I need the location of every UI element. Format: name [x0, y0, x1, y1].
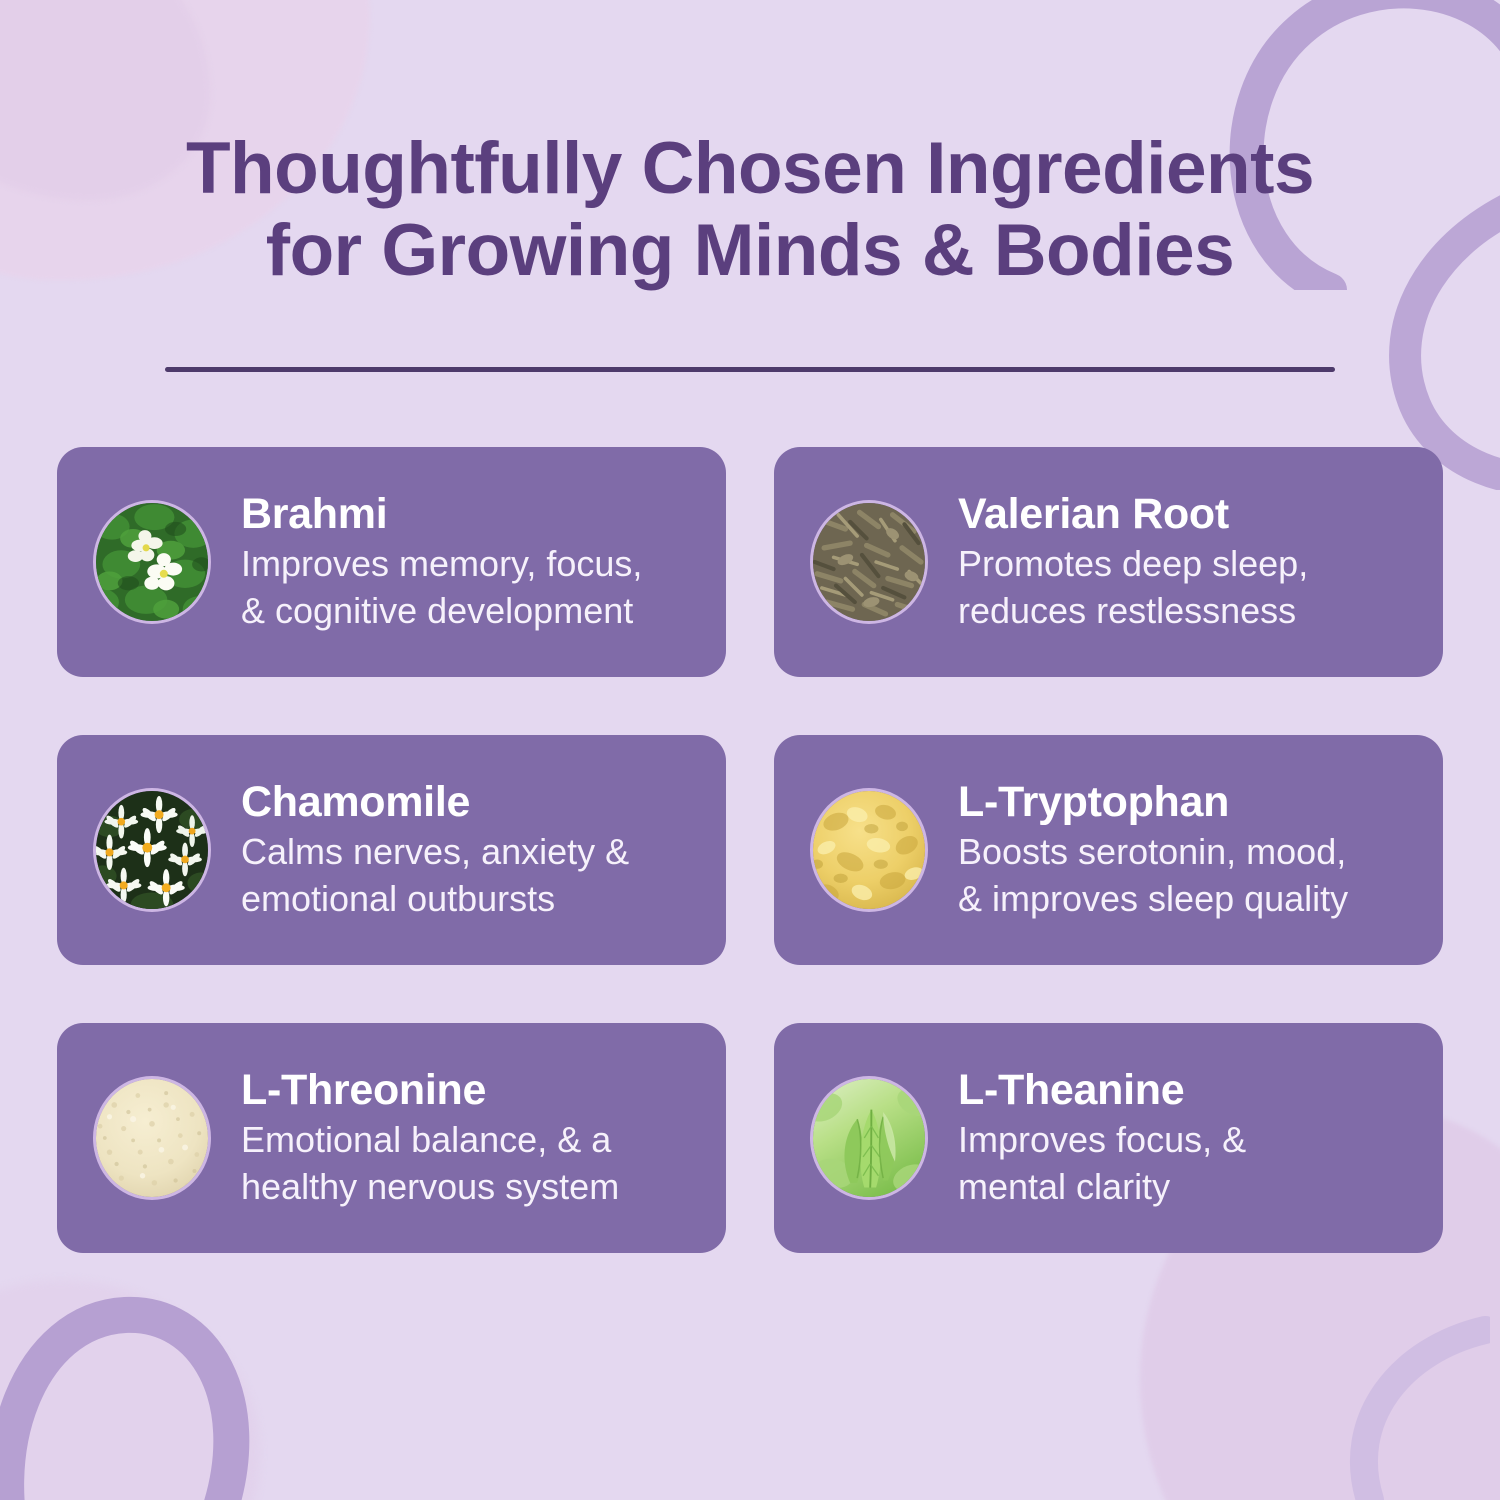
ingredient-desc-line-1: Promotes deep sleep,	[958, 541, 1417, 588]
threonine-powder-photo-icon	[93, 1076, 211, 1200]
ingredient-desc-line-2: healthy nervous system	[241, 1164, 700, 1211]
decor-arc-bottom-right	[1250, 1310, 1490, 1500]
green-tea-leaves-photo-icon	[810, 1076, 928, 1200]
ingredient-name: Brahmi	[241, 491, 700, 537]
ingredient-desc-line-2: & improves sleep quality	[958, 876, 1417, 923]
page-title-line-1: Thoughtfully Chosen Ingredients	[60, 128, 1440, 210]
valerian-root-text: Valerian Root Promotes deep sleep, reduc…	[958, 489, 1417, 635]
ingredient-card-valerian-root[interactable]: Valerian Root Promotes deep sleep, reduc…	[774, 447, 1443, 677]
valerian-root-photo-icon	[810, 500, 928, 624]
ingredient-name: L-Threonine	[241, 1067, 700, 1113]
brahmi-text: Brahmi Improves memory, focus, & cogniti…	[241, 489, 700, 635]
ingredient-desc-line-2: reduces restlessness	[958, 588, 1417, 635]
ingredient-name: Valerian Root	[958, 491, 1417, 537]
ingredient-desc-line-2: & cognitive development	[241, 588, 700, 635]
ingredients-infographic: Thoughtfully Chosen Ingredients for Grow…	[0, 0, 1500, 1500]
ingredient-card-chamomile[interactable]: Chamomile Calms nerves, anxiety & emotio…	[57, 735, 726, 965]
ingredient-name: Chamomile	[241, 779, 700, 825]
ingredient-desc-line-1: Calms nerves, anxiety &	[241, 829, 700, 876]
ingredient-card-l-theanine[interactable]: L-Theanine Improves focus, & mental clar…	[774, 1023, 1443, 1253]
ingredient-name: L-Tryptophan	[958, 779, 1417, 825]
ingredient-desc-line-1: Improves focus, &	[958, 1117, 1417, 1164]
l-threonine-text: L-Threonine Emotional balance, & a healt…	[241, 1065, 700, 1211]
ingredient-card-brahmi[interactable]: Brahmi Improves memory, focus, & cogniti…	[57, 447, 726, 677]
decor-blob-bottom-left	[0, 1280, 260, 1500]
page-title-line-2: for Growing Minds & Bodies	[60, 210, 1440, 292]
l-tryptophan-text: L-Tryptophan Boosts serotonin, mood, & i…	[958, 777, 1417, 923]
ingredient-desc-line-1: Emotional balance, & a	[241, 1117, 700, 1164]
ingredient-name: L-Theanine	[958, 1067, 1417, 1113]
chamomile-flowers-photo-icon	[93, 788, 211, 912]
l-theanine-text: L-Theanine Improves focus, & mental clar…	[958, 1065, 1417, 1211]
ingredient-card-l-threonine[interactable]: L-Threonine Emotional balance, & a healt…	[57, 1023, 726, 1253]
page-header: Thoughtfully Chosen Ingredients for Grow…	[0, 128, 1500, 293]
chamomile-text: Chamomile Calms nerves, anxiety & emotio…	[241, 777, 700, 923]
tryptophan-powder-photo-icon	[810, 788, 928, 912]
ingredient-desc-line-2: emotional outbursts	[241, 876, 700, 923]
ingredient-desc-line-1: Boosts serotonin, mood,	[958, 829, 1417, 876]
ingredient-desc-line-2: mental clarity	[958, 1164, 1417, 1211]
header-divider	[165, 367, 1335, 372]
ingredient-card-l-tryptophan[interactable]: L-Tryptophan Boosts serotonin, mood, & i…	[774, 735, 1443, 965]
page-title: Thoughtfully Chosen Ingredients for Grow…	[0, 128, 1500, 293]
ingredient-desc-line-1: Improves memory, focus,	[241, 541, 700, 588]
decor-loop-bottom-left	[0, 1280, 290, 1500]
brahmi-plant-photo-icon	[93, 500, 211, 624]
ingredient-card-grid: Brahmi Improves memory, focus, & cogniti…	[57, 447, 1443, 1253]
